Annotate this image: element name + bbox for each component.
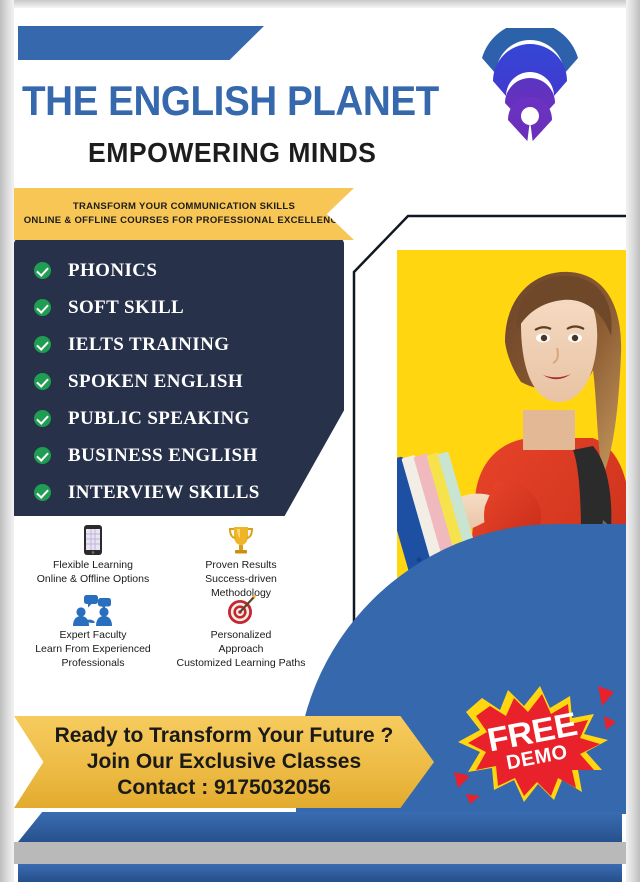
- feature-proven-results: Proven Results Success-driven Methodolog…: [166, 524, 316, 600]
- list-item[interactable]: INTERVIEW SKILLS: [14, 474, 344, 511]
- check-circle-icon: [34, 447, 51, 464]
- feature-desc: Customized Learning Paths: [166, 656, 316, 670]
- tagline-line-2: ONLINE & OFFLINE COURSES FOR PROFESSIONA…: [24, 214, 345, 228]
- course-label: PUBLIC SPEAKING: [68, 408, 250, 430]
- page-edge-left: [0, 0, 14, 882]
- feature-expert-faculty: Expert Faculty Learn From Experienced Pr…: [18, 594, 168, 670]
- feature-personalized-approach: Personalized Approach Customized Learnin…: [166, 594, 316, 670]
- list-item[interactable]: BUSINESS ENGLISH: [14, 437, 344, 474]
- cta-line-1: Ready to Transform Your Future ?: [55, 723, 394, 749]
- feature-title: Expert Faculty: [18, 628, 168, 642]
- check-circle-icon: [34, 484, 51, 501]
- footer-gap: [14, 842, 626, 864]
- feature-desc: Learn From Experienced Professionals: [18, 642, 168, 670]
- course-list-panel: PHONICS SOFT SKILL IELTS TRAINING SPOKEN…: [14, 238, 344, 516]
- feature-desc: Online & Offline Options: [18, 572, 168, 586]
- target-dartboard-icon: [226, 594, 256, 626]
- wifi-pen-nib-icon: [478, 28, 582, 144]
- footer-bar-secondary: [18, 864, 622, 882]
- list-item[interactable]: PUBLIC SPEAKING: [14, 400, 344, 437]
- check-circle-icon: [34, 262, 51, 279]
- tagline-banner: TRANSFORM YOUR COMMUNICATION SKILLS ONLI…: [14, 188, 354, 240]
- course-label: IELTS TRAINING: [68, 334, 229, 356]
- trophy-icon: [227, 524, 255, 556]
- free-demo-badge[interactable]: FREE DEMO: [452, 676, 616, 808]
- check-circle-icon: [34, 410, 51, 427]
- feature-title: Flexible Learning: [18, 558, 168, 572]
- course-label: SPOKEN ENGLISH: [68, 371, 243, 393]
- feature-title: Proven Results: [166, 558, 316, 572]
- starburst-icon: [452, 676, 616, 808]
- footer-bar-primary: [18, 812, 622, 842]
- list-item[interactable]: SOFT SKILL: [14, 289, 344, 326]
- check-circle-icon: [34, 299, 51, 316]
- page-edge-top: [0, 0, 640, 8]
- course-label: BUSINESS ENGLISH: [68, 445, 258, 467]
- course-label: SOFT SKILL: [68, 297, 184, 319]
- check-circle-icon: [34, 373, 51, 390]
- brand-tagline: EMPOWERING MINDS: [88, 138, 376, 168]
- header-accent-bar: [18, 26, 264, 60]
- course-label: PHONICS: [68, 260, 157, 282]
- poster-canvas: THE ENGLISH PLANET EMPOWERING MINDS TRAN…: [0, 0, 640, 882]
- tagline-line-1: TRANSFORM YOUR COMMUNICATION SKILLS: [73, 200, 295, 214]
- check-circle-icon: [34, 336, 51, 353]
- cta-banner[interactable]: Ready to Transform Your Future ? Join Ou…: [14, 716, 434, 808]
- cta-line-2: Join Our Exclusive Classes: [87, 749, 361, 775]
- feature-flexible-learning: Flexible Learning Online & Offline Optio…: [18, 524, 168, 586]
- features-section: Flexible Learning Online & Offline Optio…: [14, 524, 324, 694]
- feature-title: Personalized Approach: [166, 628, 316, 656]
- cta-contact-number: Contact : 9175032056: [117, 775, 331, 801]
- course-label: INTERVIEW SKILLS: [68, 482, 260, 504]
- list-item[interactable]: IELTS TRAINING: [14, 326, 344, 363]
- page-title: THE ENGLISH PLANET: [22, 80, 439, 122]
- list-item[interactable]: PHONICS: [14, 252, 344, 289]
- mobile-phone-icon: [83, 524, 103, 556]
- list-item[interactable]: SPOKEN ENGLISH: [14, 363, 344, 400]
- people-chat-icon: [70, 594, 116, 626]
